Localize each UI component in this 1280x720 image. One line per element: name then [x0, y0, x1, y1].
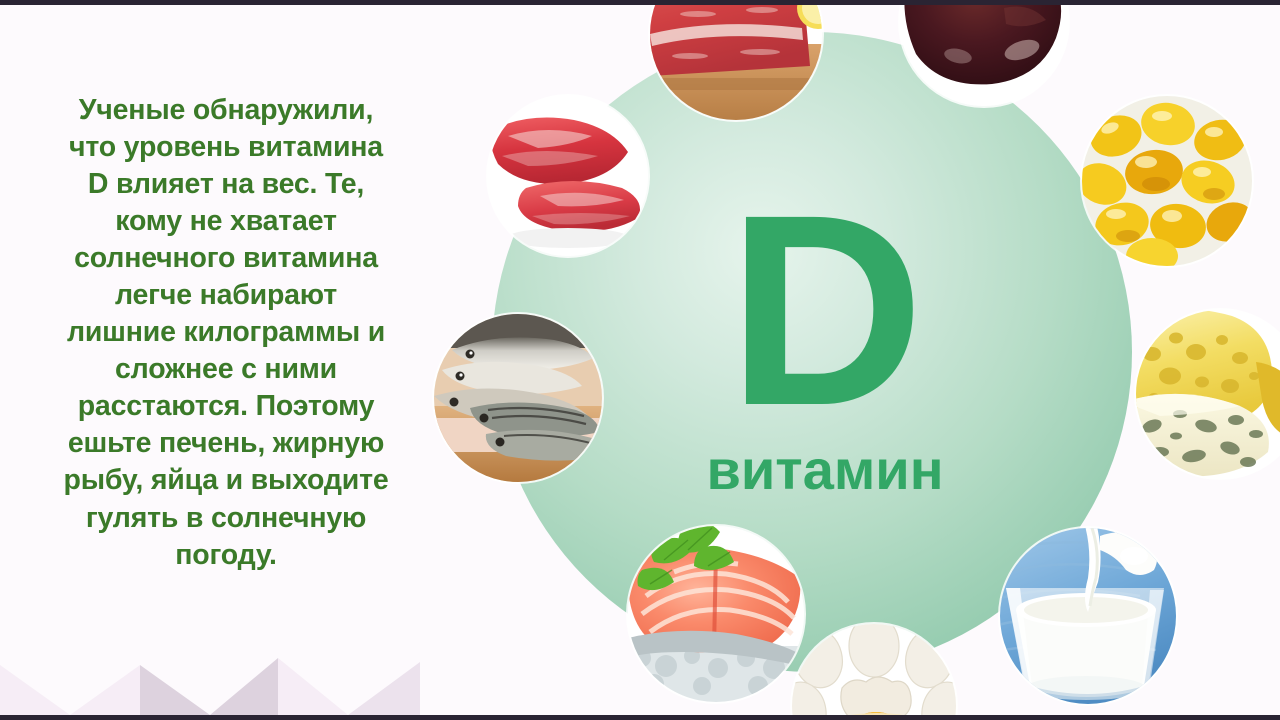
body-paragraph: Ученые обнаружили, что уровень витамина … [26, 92, 426, 574]
bubble-cheese-wedges [1136, 310, 1280, 478]
chevron-decoration [0, 610, 420, 715]
bubble-sardines [434, 314, 602, 482]
bubble-raw-beef-steaks [488, 96, 648, 256]
bubble-salmon-steak [628, 526, 804, 702]
slide-canvas: Ученые обнаружили, что уровень витамина … [0, 0, 1280, 720]
letterbox-bar-top [0, 0, 1280, 5]
letterbox-bar-bottom [0, 715, 1280, 720]
bubble-fish-oil-capsules [1082, 96, 1252, 266]
bubble-pouring-milk [1000, 528, 1176, 704]
